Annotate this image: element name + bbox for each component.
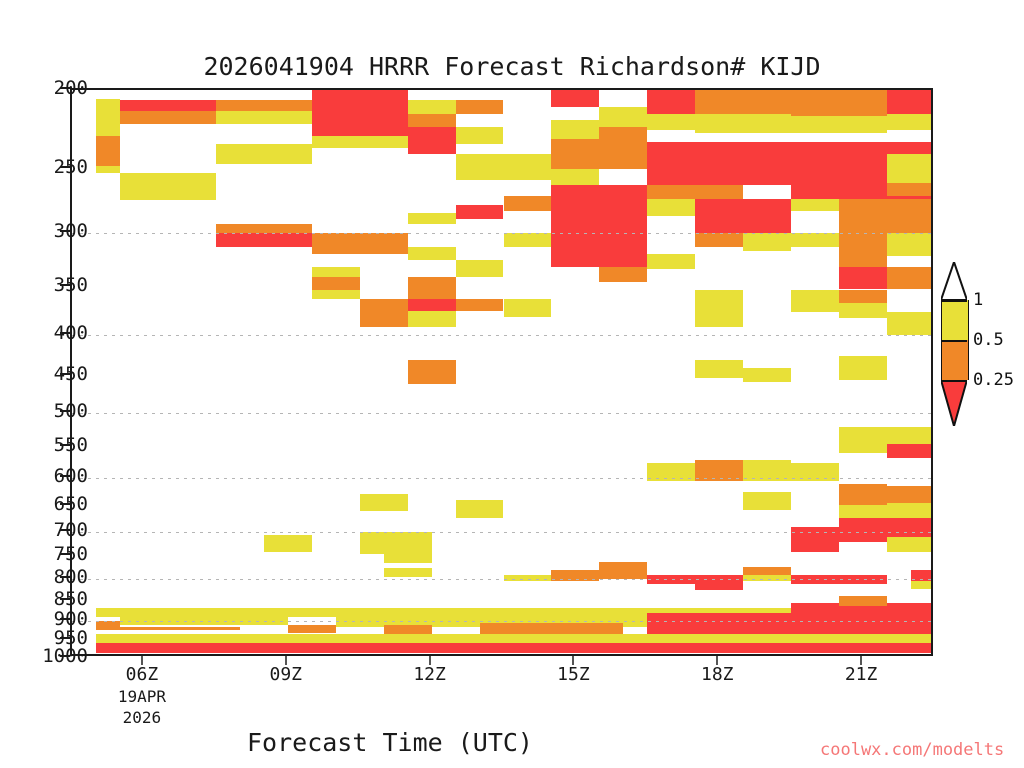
heatmap-cell	[647, 114, 695, 130]
y-axis-tick-mark	[60, 87, 70, 89]
heatmap-cell	[96, 634, 933, 643]
heatmap-cell	[887, 444, 933, 459]
heatmap-cells	[72, 90, 931, 654]
heatmap-cell	[456, 299, 504, 311]
heatmap-cell	[839, 267, 887, 290]
heatmap-cell	[216, 100, 312, 110]
y-axis-tick-mark	[60, 230, 70, 232]
heatmap-cell	[480, 623, 624, 635]
heatmap-cell	[647, 199, 695, 217]
heatmap-cell	[312, 290, 360, 300]
heatmap-cell	[599, 127, 647, 143]
y-axis-tick-label: 550	[54, 434, 88, 456]
heatmap-cell	[887, 518, 933, 537]
y-axis-tick-mark	[60, 618, 70, 620]
heatmap-cell	[504, 299, 552, 316]
y-axis-tick-label: 250	[54, 156, 88, 178]
heatmap-cell	[551, 90, 599, 107]
heatmap-cell	[647, 90, 695, 114]
heatmap-cell	[887, 267, 933, 290]
heatmap-cell	[887, 503, 933, 517]
heatmap-cell	[551, 570, 599, 581]
x-axis-tick-mark	[716, 656, 718, 665]
y-axis-tick-mark	[60, 284, 70, 286]
heatmap-cell	[791, 116, 887, 134]
colorbar-segment	[941, 340, 969, 380]
heatmap-plot-area	[70, 88, 933, 656]
heatmap-cell	[120, 100, 216, 110]
y-axis-tick-label: 850	[54, 588, 88, 610]
colorbar-tick-label: 0.25	[973, 370, 1014, 390]
heatmap-cell	[408, 299, 456, 311]
y-axis-tick-mark	[60, 475, 70, 477]
colorbar-tick-mark	[941, 380, 967, 382]
x-axis-tick-label: 09Z	[269, 664, 302, 685]
heatmap-cell	[360, 494, 408, 512]
heatmap-cell	[384, 554, 432, 563]
heatmap-cell	[839, 484, 887, 505]
x-axis-tick-label: 18Z	[701, 664, 734, 685]
heatmap-cell	[551, 185, 647, 266]
colorbar-tick-label: 0.5	[973, 330, 1004, 350]
x-axis-tick-label: 21Z	[845, 664, 878, 685]
heatmap-cell	[599, 562, 647, 579]
heatmap-cell	[120, 111, 216, 124]
heatmap-cell	[839, 427, 887, 453]
heatmap-cell	[887, 233, 933, 256]
heatmap-cell	[695, 199, 791, 234]
heatmap-cell	[695, 360, 743, 378]
heatmap-cell	[216, 224, 312, 234]
x-axis-tick-mark	[572, 656, 574, 665]
heatmap-cell	[96, 136, 120, 166]
x-axis-tick-label: 06Z	[126, 664, 159, 685]
y-axis-tick-label: 700	[54, 519, 88, 541]
heatmap-cell	[504, 575, 552, 582]
heatmap-cell	[551, 139, 647, 168]
heatmap-cell	[120, 90, 168, 100]
heatmap-cell	[791, 199, 839, 212]
heatmap-cell	[695, 290, 743, 328]
heatmap-cell	[120, 617, 288, 626]
x-axis-tick-label: 12Z	[413, 664, 446, 685]
heatmap-cell	[791, 90, 887, 116]
heatmap-cell	[312, 233, 408, 254]
x-axis-tick-mark	[429, 656, 431, 665]
heatmap-cell	[312, 267, 360, 278]
heatmap-cell	[647, 185, 743, 198]
heatmap-cell	[887, 183, 933, 196]
heatmap-cell	[887, 114, 933, 130]
heatmap-cell	[599, 107, 647, 127]
heatmap-cell	[887, 90, 933, 114]
heatmap-cell	[96, 621, 120, 631]
heatmap-cell	[839, 356, 887, 380]
heatmap-cell	[96, 642, 933, 653]
heatmap-cell	[408, 114, 456, 127]
heatmap-cell	[887, 154, 933, 182]
colorbar-tick-mark	[941, 300, 967, 302]
y-axis-tick-label: 400	[54, 322, 88, 344]
heatmap-cell	[743, 368, 791, 382]
x-axis-tick-mark	[285, 656, 287, 665]
x-axis-tick-mark	[860, 656, 862, 665]
heatmap-cell	[695, 233, 743, 247]
heatmap-cell	[599, 267, 647, 283]
heatmap-cell	[647, 254, 695, 269]
y-axis-tick-mark	[60, 373, 70, 375]
heatmap-cell	[456, 127, 504, 144]
y-axis-tick-label: 300	[54, 220, 88, 242]
colorbar-tick-mark	[941, 340, 967, 342]
heatmap-cell	[887, 312, 933, 335]
heatmap-cell	[743, 460, 791, 481]
heatmap-cell	[695, 114, 743, 133]
heatmap-cell	[384, 625, 432, 634]
heatmap-cell	[911, 581, 933, 588]
heatmap-cell	[743, 492, 791, 510]
y-axis-tick-label: 650	[54, 493, 88, 515]
y-axis-tick-mark	[60, 529, 70, 531]
y-axis-tick-mark	[60, 332, 70, 334]
heatmap-cell	[695, 581, 743, 590]
heatmap-cell	[839, 505, 887, 518]
heatmap-cell	[408, 277, 456, 299]
heatmap-cell	[647, 463, 695, 481]
heatmap-cell	[551, 169, 599, 186]
heatmap-cell	[312, 136, 408, 148]
heatmap-cell	[839, 518, 887, 542]
y-axis-tick-mark	[60, 553, 70, 555]
y-axis-tick-label: 750	[54, 543, 88, 565]
heatmap-cell	[216, 233, 312, 247]
colorbar-segment	[941, 300, 969, 340]
heatmap-cell	[264, 535, 312, 552]
heatmap-cell	[839, 233, 887, 267]
heatmap-cell	[695, 90, 791, 114]
heatmap-cell	[743, 114, 791, 133]
heatmap-cell	[408, 100, 456, 113]
heatmap-cell	[743, 575, 791, 582]
colorbar-tick-label: 1	[973, 290, 983, 310]
y-axis-tick-mark	[60, 655, 70, 657]
y-axis-tick-label: 800	[54, 566, 88, 588]
x-axis-tick-label: 15Z	[557, 664, 590, 685]
heatmap-cell	[96, 166, 120, 173]
heatmap-cell	[384, 568, 432, 577]
colorbar: 10.50.25	[941, 300, 967, 460]
y-axis-tick-mark	[60, 410, 70, 412]
heatmap-cell	[408, 311, 456, 328]
y-axis-tick-label: 200	[54, 77, 88, 99]
heatmap-cell	[887, 537, 933, 552]
heatmap-cell	[839, 596, 887, 605]
heatmap-cell	[120, 173, 216, 200]
heatmap-cell	[504, 233, 552, 247]
heatmap-cell	[96, 99, 120, 137]
heatmap-cell	[839, 199, 933, 234]
heatmap-cell	[504, 196, 552, 211]
x-axis-title: Forecast Time (UTC)	[0, 728, 780, 757]
y-axis-tick-mark	[60, 503, 70, 505]
heatmap-cell	[456, 100, 504, 113]
heatmap-cell	[743, 233, 791, 251]
colorbar-lower-arrow	[941, 380, 967, 426]
heatmap-cell	[791, 463, 839, 481]
heatmap-cell	[456, 154, 552, 180]
y-axis-tick-label: 600	[54, 465, 88, 487]
x-axis-tick-mark	[141, 656, 143, 665]
heatmap-cell	[456, 500, 504, 517]
y-axis-tick-label: 350	[54, 274, 88, 296]
heatmap-cell	[791, 575, 887, 585]
heatmap-cell	[887, 427, 933, 444]
heatmap-cell	[839, 303, 887, 318]
heatmap-cell	[551, 120, 599, 139]
heatmap-cell	[312, 277, 360, 289]
heatmap-cell	[647, 613, 933, 634]
y-axis-tick-mark	[60, 166, 70, 168]
heatmap-cell	[288, 625, 336, 633]
heatmap-cell	[216, 111, 312, 124]
heatmap-cell	[791, 527, 839, 552]
heatmap-cell	[887, 486, 933, 503]
watermark: coolwx.com/modelts	[820, 740, 1004, 760]
heatmap-cell	[695, 460, 743, 481]
heatmap-cell	[911, 570, 933, 581]
y-axis-tick-label: 500	[54, 400, 88, 422]
heatmap-cell	[456, 260, 504, 277]
heatmap-cell	[791, 233, 839, 247]
heatmap-cell	[408, 360, 456, 384]
colorbar-upper-arrow-outline	[941, 262, 967, 300]
y-axis-tick-mark	[60, 637, 70, 639]
heatmap-cell	[120, 627, 240, 631]
heatmap-cell	[647, 142, 791, 185]
heatmap-cell	[456, 205, 504, 219]
chart-title: 2026041904 HRRR Forecast Richardson# KIJ…	[0, 52, 1024, 81]
heatmap-cell	[216, 144, 312, 165]
heatmap-cell	[408, 247, 456, 260]
y-axis-tick-mark	[60, 444, 70, 446]
x-axis-date-label: 19APR 2026	[118, 686, 166, 728]
heatmap-cell	[791, 290, 839, 312]
y-axis-tick-mark	[60, 576, 70, 578]
heatmap-cell	[312, 90, 408, 136]
heatmap-cell	[360, 532, 432, 554]
heatmap-cell	[360, 299, 408, 327]
y-axis-tick-mark	[60, 598, 70, 600]
heatmap-cell	[743, 567, 791, 575]
heatmap-cell	[839, 290, 887, 304]
heatmap-cell	[408, 213, 456, 224]
y-axis-tick-label: 450	[54, 363, 88, 385]
heatmap-cell	[408, 127, 456, 155]
